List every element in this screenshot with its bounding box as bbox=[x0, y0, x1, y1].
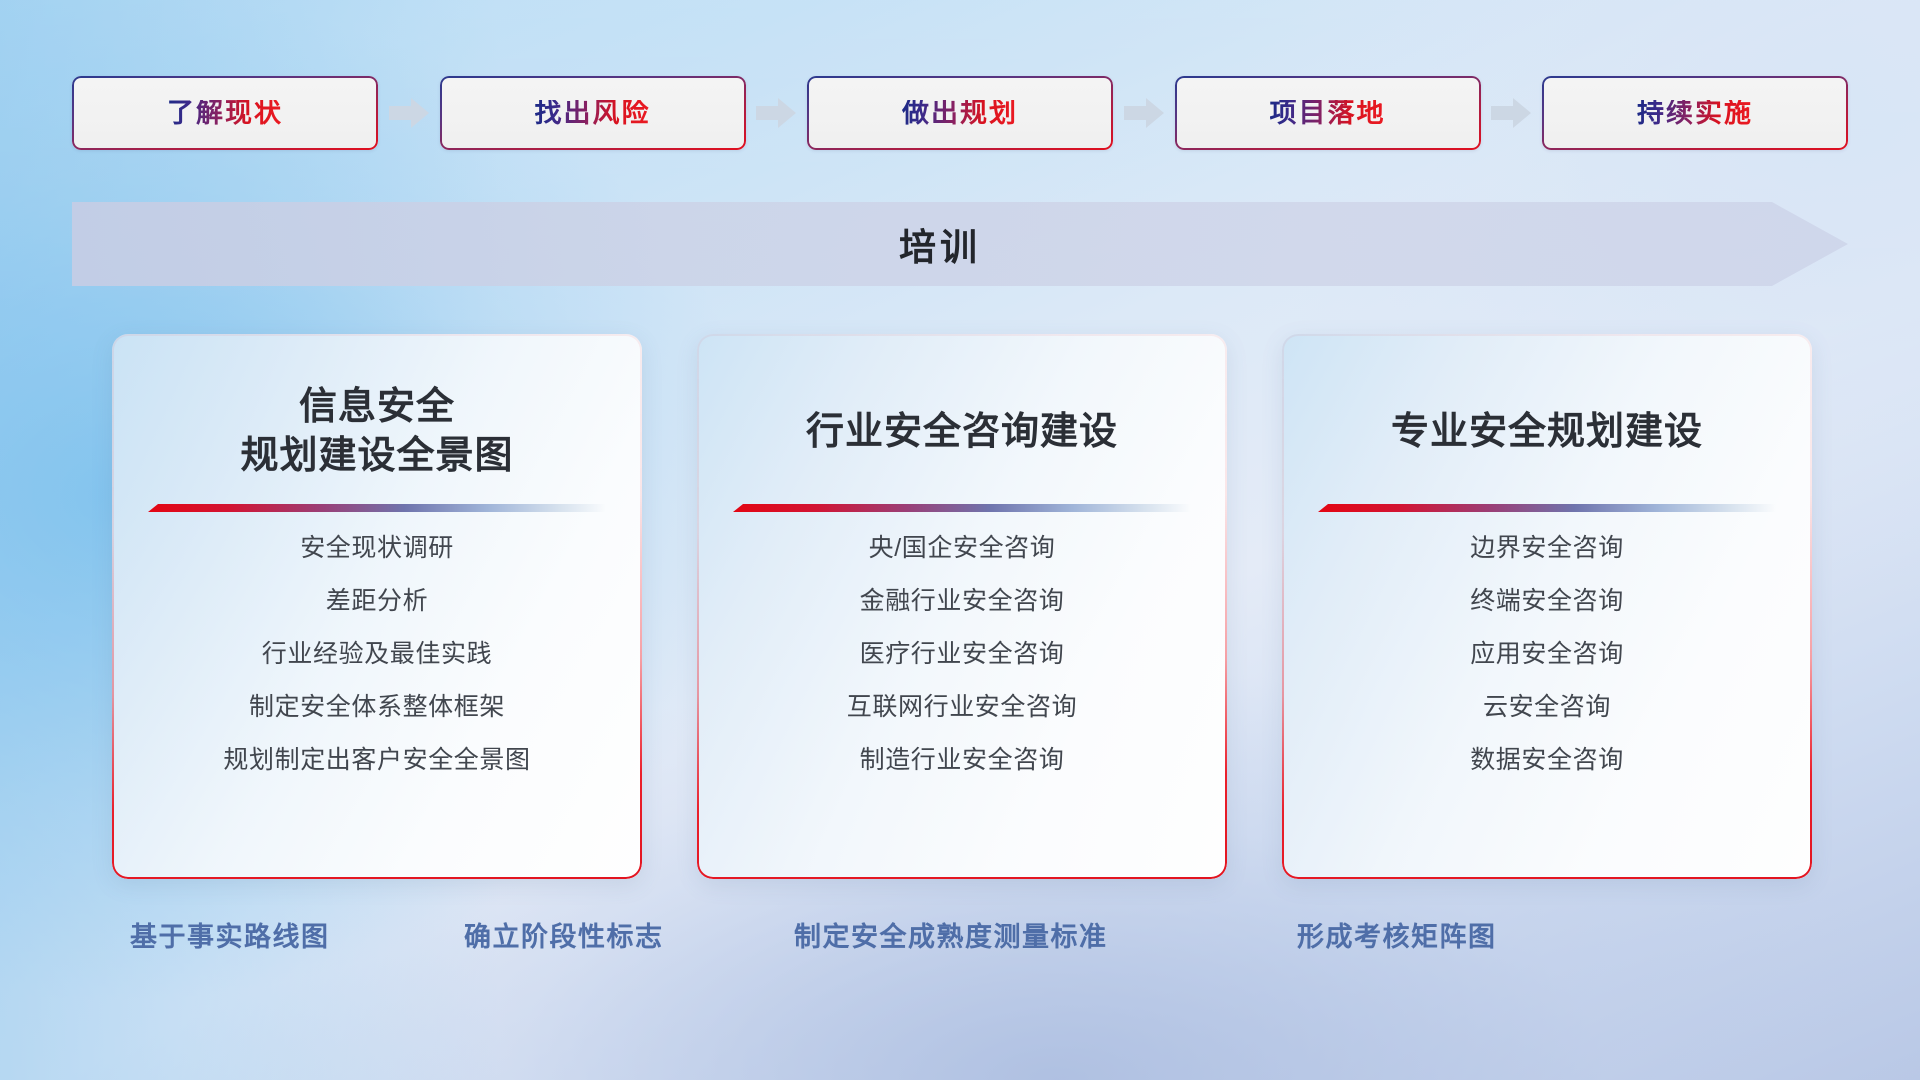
card-list-item: 应用安全咨询 bbox=[1308, 642, 1786, 667]
training-banner: 培训 bbox=[72, 202, 1848, 286]
process-step-label: 找出风险 bbox=[535, 100, 651, 127]
card-list-item: 边界安全咨询 bbox=[1308, 536, 1786, 561]
card-title: 专业安全规划建设 bbox=[1391, 380, 1703, 484]
card-list-item: 云安全咨询 bbox=[1308, 695, 1786, 720]
process-step-label: 做出规划 bbox=[902, 100, 1018, 127]
caption-roadmap: 基于事实路线图 bbox=[130, 915, 330, 959]
card-information-security-blueprint[interactable]: 信息安全 规划建设全景图 安全现状调研 差距分析 行业经验及最佳实践 制定安全体… bbox=[112, 334, 642, 879]
training-banner-title: 培训 bbox=[72, 202, 1848, 286]
card-list-item: 互联网行业安全咨询 bbox=[723, 695, 1201, 720]
card-list-item: 央/国企安全咨询 bbox=[723, 536, 1201, 561]
card-list-item: 安全现状调研 bbox=[138, 536, 616, 561]
process-step-chip-5[interactable]: 持续实施 bbox=[1542, 76, 1848, 150]
card-list-item: 金融行业安全咨询 bbox=[723, 589, 1201, 614]
caption-milestones: 确立阶段性标志 bbox=[464, 915, 664, 959]
process-step-chip-2[interactable]: 找出风险 bbox=[440, 76, 746, 150]
card-list-item: 差距分析 bbox=[138, 589, 616, 614]
card-divider bbox=[148, 504, 606, 512]
caption-assessment-matrix: 形成考核矩阵图 bbox=[1297, 915, 1497, 959]
card-divider bbox=[733, 504, 1191, 512]
card-industry-security-consulting[interactable]: 行业安全咨询建设 央/国企安全咨询 金融行业安全咨询 医疗行业安全咨询 互联网行… bbox=[697, 334, 1227, 879]
process-step-label: 了解现状 bbox=[167, 100, 283, 127]
card-list-item: 制造行业安全咨询 bbox=[723, 748, 1201, 773]
caption-maturity-standard: 制定安全成熟度测量标准 bbox=[794, 915, 1108, 959]
process-step-bar: 了解现状 找出风险 做出规划 项目落地 bbox=[72, 76, 1848, 150]
card-item-list: 边界安全咨询 终端安全咨询 应用安全咨询 云安全咨询 数据安全咨询 bbox=[1308, 536, 1786, 773]
card-professional-security-planning[interactable]: 专业安全规划建设 边界安全咨询 终端安全咨询 应用安全咨询 云安全咨询 数据安全… bbox=[1282, 334, 1812, 879]
card-list-item: 医疗行业安全咨询 bbox=[723, 642, 1201, 667]
card-list-item: 终端安全咨询 bbox=[1308, 589, 1786, 614]
card-title: 信息安全 规划建设全景图 bbox=[240, 380, 513, 484]
card-list-item: 行业经验及最佳实践 bbox=[138, 642, 616, 667]
right-arrow-icon bbox=[1491, 96, 1531, 130]
process-step-label: 持续实施 bbox=[1637, 100, 1753, 127]
slide-canvas: 了解现状 找出风险 做出规划 项目落地 bbox=[0, 0, 1920, 1080]
card-title: 行业安全咨询建设 bbox=[806, 380, 1118, 484]
card-item-list: 央/国企安全咨询 金融行业安全咨询 医疗行业安全咨询 互联网行业安全咨询 制造行… bbox=[723, 536, 1201, 773]
process-step-label: 项目落地 bbox=[1270, 100, 1386, 127]
right-arrow-icon bbox=[756, 96, 796, 130]
card-list-item: 数据安全咨询 bbox=[1308, 748, 1786, 773]
card-list-item: 规划制定出客户安全全景图 bbox=[138, 748, 616, 773]
right-arrow-icon bbox=[1124, 96, 1164, 130]
card-divider bbox=[1318, 504, 1776, 512]
caption-row: 基于事实路线图 确立阶段性标志 制定安全成熟度测量标准 形成考核矩阵图 bbox=[112, 915, 1812, 959]
card-list-item: 制定安全体系整体框架 bbox=[138, 695, 616, 720]
process-step-chip-1[interactable]: 了解现状 bbox=[72, 76, 378, 150]
process-step-chip-3[interactable]: 做出规划 bbox=[807, 76, 1113, 150]
right-arrow-icon bbox=[389, 96, 429, 130]
card-item-list: 安全现状调研 差距分析 行业经验及最佳实践 制定安全体系整体框架 规划制定出客户… bbox=[138, 536, 616, 773]
card-group: 信息安全 规划建设全景图 安全现状调研 差距分析 行业经验及最佳实践 制定安全体… bbox=[112, 334, 1812, 879]
process-step-chip-4[interactable]: 项目落地 bbox=[1175, 76, 1481, 150]
